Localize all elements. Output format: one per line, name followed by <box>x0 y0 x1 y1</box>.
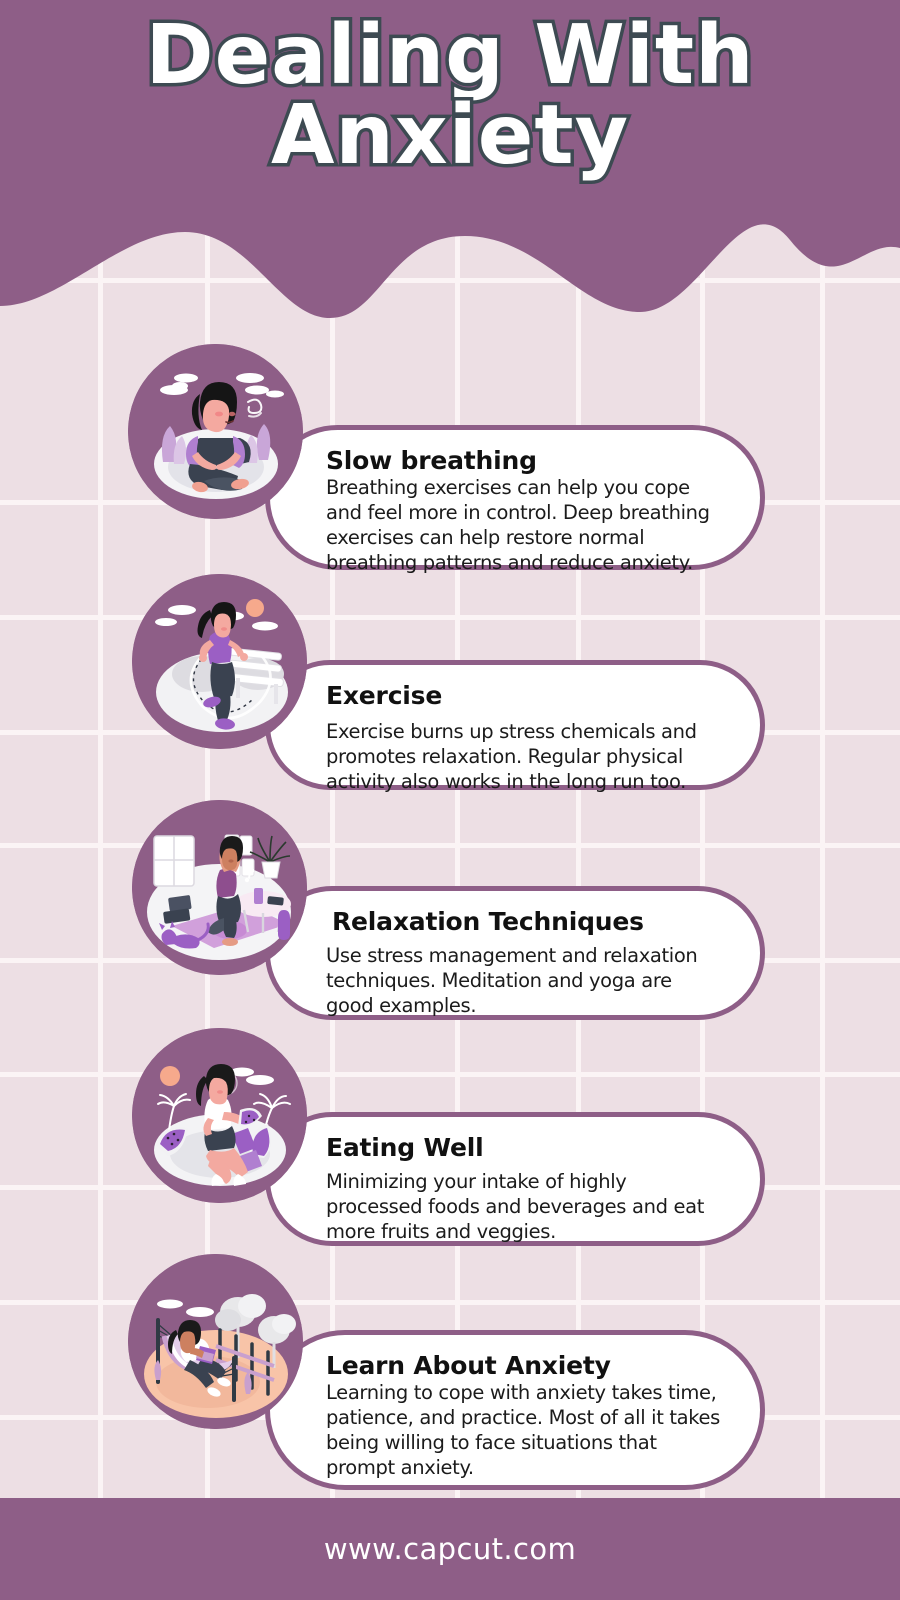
footer-bar: www.capcut.com <box>0 1498 900 1600</box>
card-2[interactable]: Exercise Exercise burns up stress chemic… <box>265 660 765 790</box>
grid-line-horizontal <box>0 843 900 848</box>
page-title: Dealing With Anxiety <box>0 16 900 177</box>
card-body: Use stress management and relaxation tec… <box>326 944 726 1019</box>
card-body: Breathing exercises can help you cope an… <box>326 476 726 576</box>
watermelon-eating-illustration-icon <box>132 1028 307 1203</box>
card-4[interactable]: Eating Well Minimizing your intake of hi… <box>265 1112 765 1246</box>
card-title: Slow breathing <box>326 446 726 475</box>
card-body: Minimizing your intake of highly process… <box>326 1170 726 1245</box>
page-title-line-2: Anxiety <box>0 96 900 176</box>
card-body: Exercise burns up stress chemicals and p… <box>326 720 726 795</box>
jump-rope-illustration-icon <box>132 574 307 749</box>
page-title-line-1: Dealing With <box>0 16 900 96</box>
grid-line-horizontal <box>0 615 900 620</box>
card-title: Exercise <box>326 681 726 710</box>
meditation-illustration-icon <box>128 344 303 519</box>
card-5[interactable]: Learn About Anxiety Learning to cope wit… <box>265 1330 765 1490</box>
card-title: Eating Well <box>326 1133 726 1162</box>
infographic-poster: Dealing With Anxiety <box>0 0 900 1600</box>
poster-header: Dealing With Anxiety <box>0 0 900 320</box>
card-body: Learning to cope with anxiety takes time… <box>326 1381 726 1481</box>
yoga-pose-illustration-icon <box>132 800 307 975</box>
card-3[interactable]: Relaxation Techniques Use stress managem… <box>265 886 765 1020</box>
card-1[interactable]: Slow breathing Breathing exercises can h… <box>265 425 765 570</box>
footer-url[interactable]: www.capcut.com <box>324 1532 576 1566</box>
card-title: Relaxation Techniques <box>332 907 726 936</box>
card-title: Learn About Anxiety <box>326 1351 726 1380</box>
hammock-reading-illustration-icon <box>128 1254 303 1429</box>
grid-line-horizontal <box>0 1072 900 1077</box>
